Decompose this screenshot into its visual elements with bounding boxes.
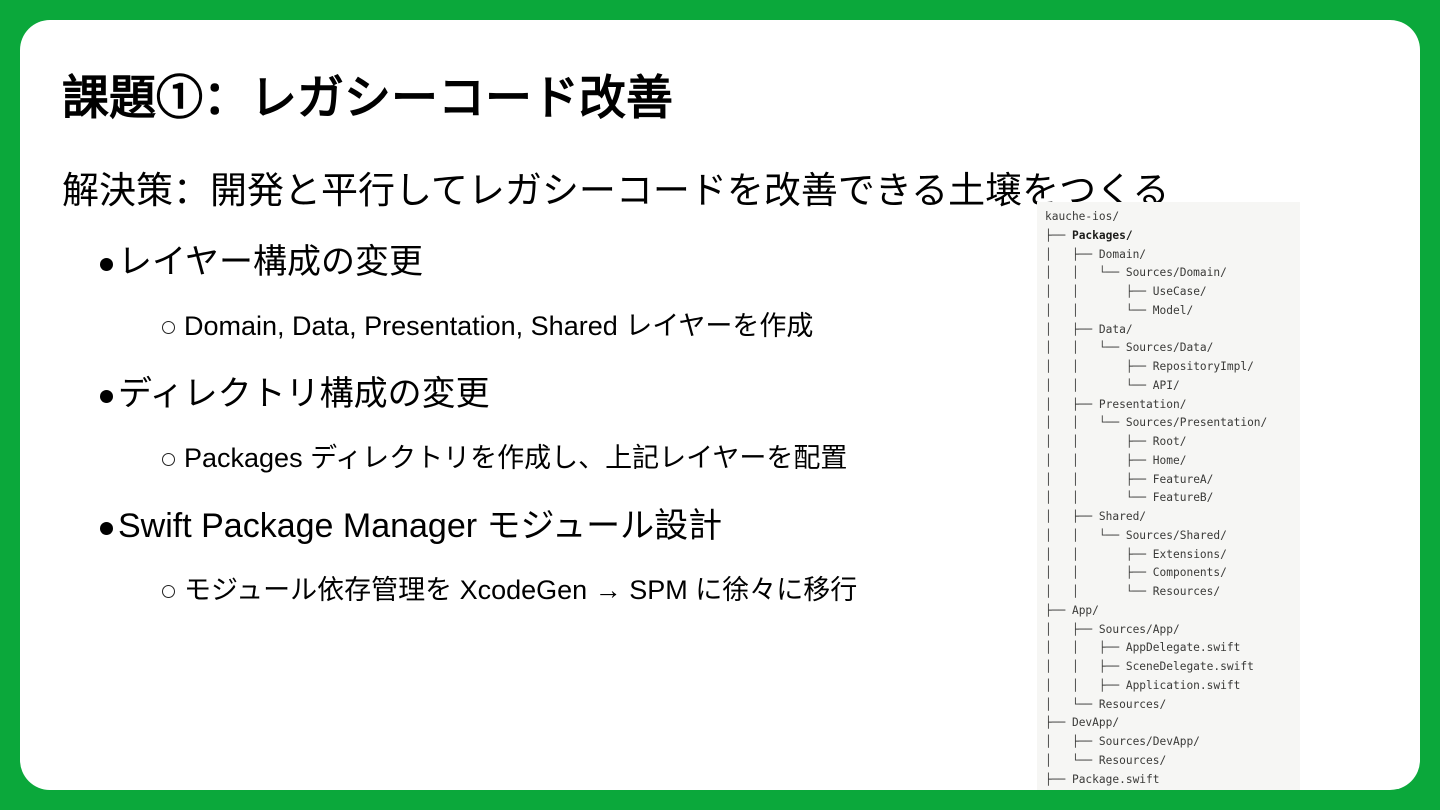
sub-bullet-label: モジュール依存管理を XcodeGen → SPM に徐々に移行 <box>184 562 857 618</box>
directory-tree-panel: kauche-ios/ ├── Packages/ │ ├── Domain/ … <box>1037 202 1300 790</box>
hollow-dot-icon <box>62 298 184 354</box>
filled-dot-icon <box>62 496 118 556</box>
page-title: 課題①：レガシーコード改善 <box>62 72 673 124</box>
filled-dot-icon <box>62 232 118 292</box>
directory-tree-text: kauche-ios/ ├── Packages/ │ ├── Domain/ … <box>1045 208 1292 790</box>
slide-root: 課題①：レガシーコード改善 解決策：開発と平行してレガシーコードを改善できる土壌… <box>0 0 1440 810</box>
sub-bullet-label: Packages ディレクトリを作成し、上記レイヤーを配置 <box>184 430 847 486</box>
bullet-label: Swift Package Manager モジュール設計 <box>118 496 722 556</box>
bullet-label: レイヤー構成の変更 <box>118 232 423 292</box>
solution-subtitle: 解決策：開発と平行してレガシーコードを改善できる土壌をつくる <box>62 168 1169 214</box>
bullet-item-level2: Domain, Data, Presentation, Shared レイヤーを… <box>62 298 1022 362</box>
slide-card: 課題①：レガシーコード改善 解決策：開発と平行してレガシーコードを改善できる土壌… <box>20 20 1420 790</box>
bullet-item-level1: レイヤー構成の変更 <box>62 232 1022 298</box>
bullet-list: レイヤー構成の変更 Domain, Data, Presentation, Sh… <box>62 232 1022 628</box>
filled-dot-icon <box>62 364 118 424</box>
bullet-group: Swift Package Manager モジュール設計 モジュール依存管理を… <box>62 496 1022 626</box>
bullet-item-level1: ディレクトリ構成の変更 <box>62 364 1022 430</box>
hollow-dot-icon <box>62 562 184 618</box>
hollow-dot-icon <box>62 430 184 486</box>
bullet-item-level2: モジュール依存管理を XcodeGen → SPM に徐々に移行 <box>62 562 1022 626</box>
bullet-group: レイヤー構成の変更 Domain, Data, Presentation, Sh… <box>62 232 1022 362</box>
sub-bullet-label: Domain, Data, Presentation, Shared レイヤーを… <box>184 298 813 354</box>
tree-node-label: Packages/ <box>1072 229 1133 242</box>
bullet-group: ディレクトリ構成の変更 Packages ディレクトリを作成し、上記レイヤーを配… <box>62 364 1022 494</box>
bullet-label: ディレクトリ構成の変更 <box>118 364 490 424</box>
bullet-item-level2: Packages ディレクトリを作成し、上記レイヤーを配置 <box>62 430 1022 494</box>
bullet-item-level1: Swift Package Manager モジュール設計 <box>62 496 1022 562</box>
